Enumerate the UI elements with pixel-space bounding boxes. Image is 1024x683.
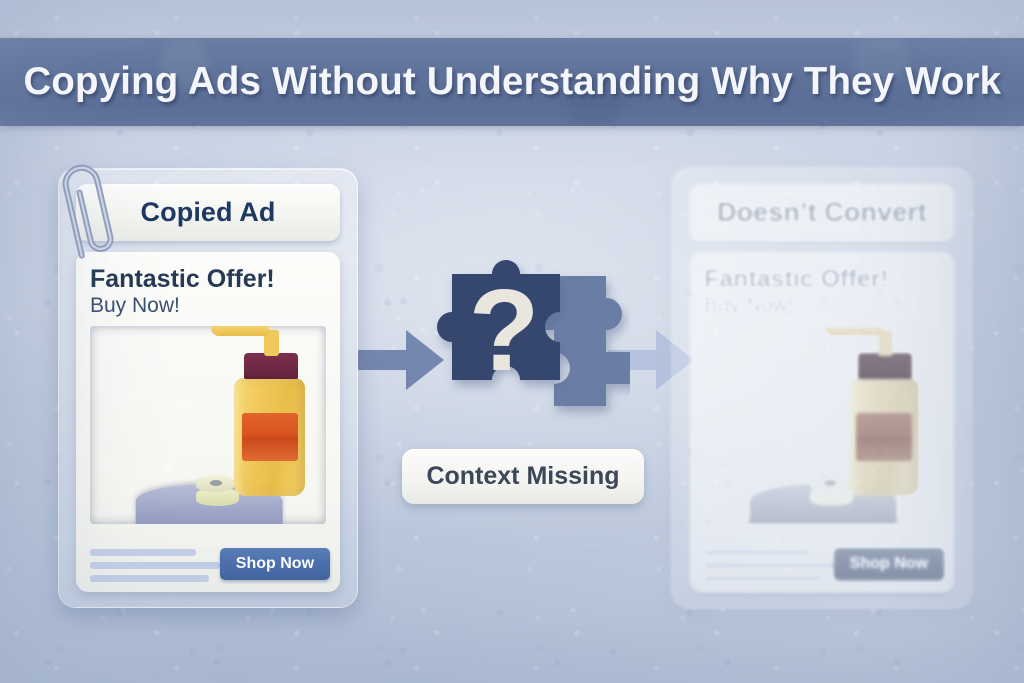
canvas-background: Copying Ads Without Understanding Why Th… — [0, 0, 1024, 683]
copied-ad-header-label: Copied Ad — [141, 197, 276, 228]
question-mark-glyph: ? — [469, 265, 540, 395]
ad-subheadline: Buy Now! — [90, 294, 326, 317]
ad-subheadline: Buy Now! — [704, 294, 940, 317]
ad-skeleton-text — [90, 549, 220, 582]
context-missing-label: Context Missing — [426, 462, 619, 491]
ad-product-image — [704, 326, 940, 524]
ad-preview-right: Fantastic Offer! Buy Now! — [690, 252, 954, 592]
ad-skeleton-text — [704, 549, 834, 582]
ad-headline: Fantastic Offer! — [704, 266, 940, 293]
ad-preview-left: Fantastic Offer! Buy Now! — [76, 252, 340, 592]
shop-now-button[interactable]: Shop Now — [220, 548, 330, 580]
ad-headline: Fantastic Offer! — [90, 266, 326, 293]
ad-product-image — [90, 326, 326, 524]
doesnt-convert-header-pill: Doesn’t Convert — [690, 184, 954, 241]
doesnt-convert-card[interactable]: Doesn’t Convert Fantastic Offer! Buy Now… — [672, 168, 972, 608]
product-bottle — [234, 378, 305, 497]
shop-now-button[interactable]: Shop Now — [834, 548, 944, 580]
title-banner: Copying Ads Without Understanding Why Th… — [0, 38, 1024, 126]
context-missing-badge: Context Missing — [402, 449, 644, 504]
ad-footer: Shop Now — [90, 534, 326, 582]
doesnt-convert-header-label: Doesn’t Convert — [717, 197, 927, 228]
puzzle-piece-question-icon: ? — [420, 242, 630, 442]
product-bottle — [848, 378, 919, 497]
page-title: Copying Ads Without Understanding Why Th… — [23, 60, 1001, 104]
ad-footer: Shop Now — [704, 534, 940, 582]
